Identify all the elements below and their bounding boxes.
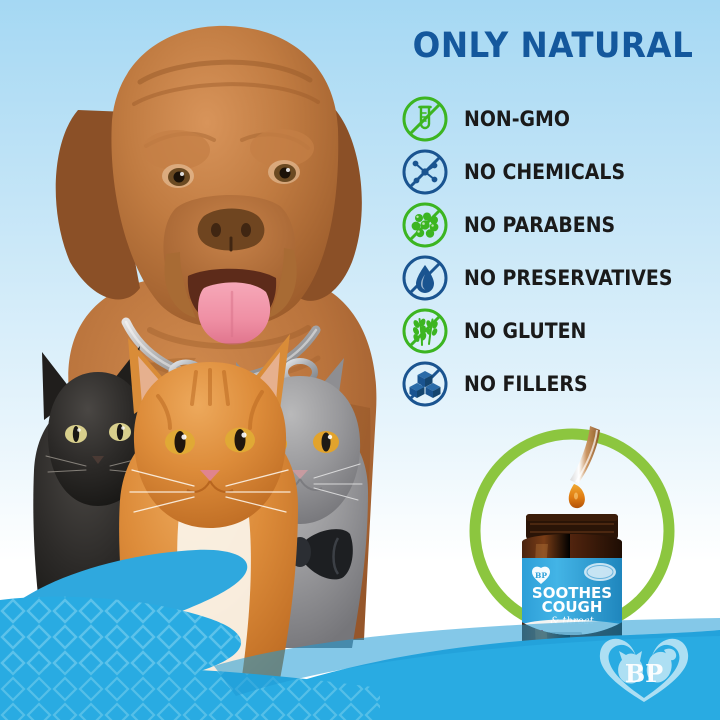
sugar-cubes-icon	[400, 359, 450, 409]
molecule-icon	[400, 147, 450, 197]
benefit-label: NO GLUTEN	[464, 319, 586, 343]
benefit-row-no-preservatives: NO PRESERVATIVES	[400, 251, 712, 304]
benefit-row-no-chemicals: NO CHEMICALS	[400, 145, 712, 198]
benefit-label: NO FILLERS	[464, 372, 588, 396]
test-tube-icon	[400, 94, 450, 144]
benefit-label: NO CHEMICALS	[464, 160, 625, 184]
wheat-icon	[400, 306, 450, 356]
infographic-canvas: ONLY NATURAL NON-GMO	[0, 0, 720, 720]
page-title: ONLY NATURAL	[409, 26, 697, 66]
molecule-cluster-icon	[400, 200, 450, 250]
benefit-label: NO PRESERVATIVES	[464, 266, 672, 290]
brand-monogram: BP	[625, 659, 663, 688]
benefit-row-no-parabens: NO PARABENS	[400, 198, 712, 251]
benefit-label: NON-GMO	[464, 107, 570, 131]
benefit-row-non-gmo: NON-GMO	[400, 92, 712, 145]
water-drop-icon	[400, 253, 450, 303]
benefit-label: NO PARABENS	[464, 213, 615, 237]
benefits-list: NON-GMO	[400, 92, 712, 410]
benefit-row-no-fillers: NO FILLERS	[400, 357, 712, 410]
benefit-row-no-gluten: NO GLUTEN	[400, 304, 712, 357]
bp-cat-dog-heart-logo: BP	[588, 630, 700, 712]
